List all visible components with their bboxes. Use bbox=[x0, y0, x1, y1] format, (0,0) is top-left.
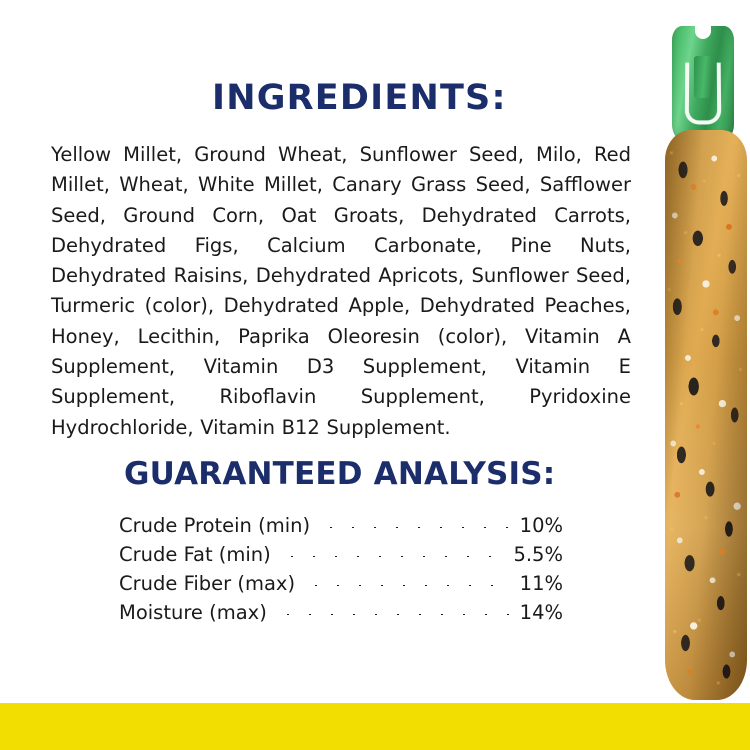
ingredients-text: Yellow Millet, Ground Wheat, Sunflower S… bbox=[51, 140, 631, 443]
hanging-clip-icon bbox=[672, 26, 734, 144]
product-label-panel: INGREDIENTS: Yellow Millet, Ground Wheat… bbox=[0, 0, 750, 750]
analysis-value: 5.5% bbox=[513, 543, 563, 566]
clip-highlight bbox=[685, 63, 722, 125]
seed-treat-stick bbox=[665, 130, 747, 700]
product-photo bbox=[660, 0, 750, 700]
table-row: Crude Fat (min) 5.5% bbox=[119, 543, 563, 572]
dot-leader bbox=[277, 614, 512, 615]
guaranteed-analysis-table: Crude Protein (min) 10% Crude Fat (min) … bbox=[119, 514, 563, 630]
table-row: Crude Fiber (max) 11% bbox=[119, 572, 563, 601]
table-row: Crude Protein (min) 10% bbox=[119, 514, 563, 543]
ingredients-heading: INGREDIENTS: bbox=[212, 78, 507, 118]
dot-leader bbox=[320, 527, 512, 528]
bottom-accent-bar bbox=[0, 703, 750, 750]
seed-stick-shading bbox=[665, 130, 747, 700]
analysis-value: 10% bbox=[520, 514, 563, 537]
dot-leader bbox=[305, 585, 512, 586]
analysis-label: Moisture (max) bbox=[119, 601, 267, 624]
analysis-label: Crude Fiber (max) bbox=[119, 572, 295, 595]
analysis-value: 14% bbox=[520, 601, 563, 624]
guaranteed-analysis-heading: GUARANTEED ANALYSIS: bbox=[124, 456, 555, 492]
analysis-label: Crude Fat (min) bbox=[119, 543, 271, 566]
dot-leader bbox=[281, 556, 506, 557]
analysis-value: 11% bbox=[520, 572, 563, 595]
table-row: Moisture (max) 14% bbox=[119, 601, 563, 630]
analysis-label: Crude Protein (min) bbox=[119, 514, 310, 537]
